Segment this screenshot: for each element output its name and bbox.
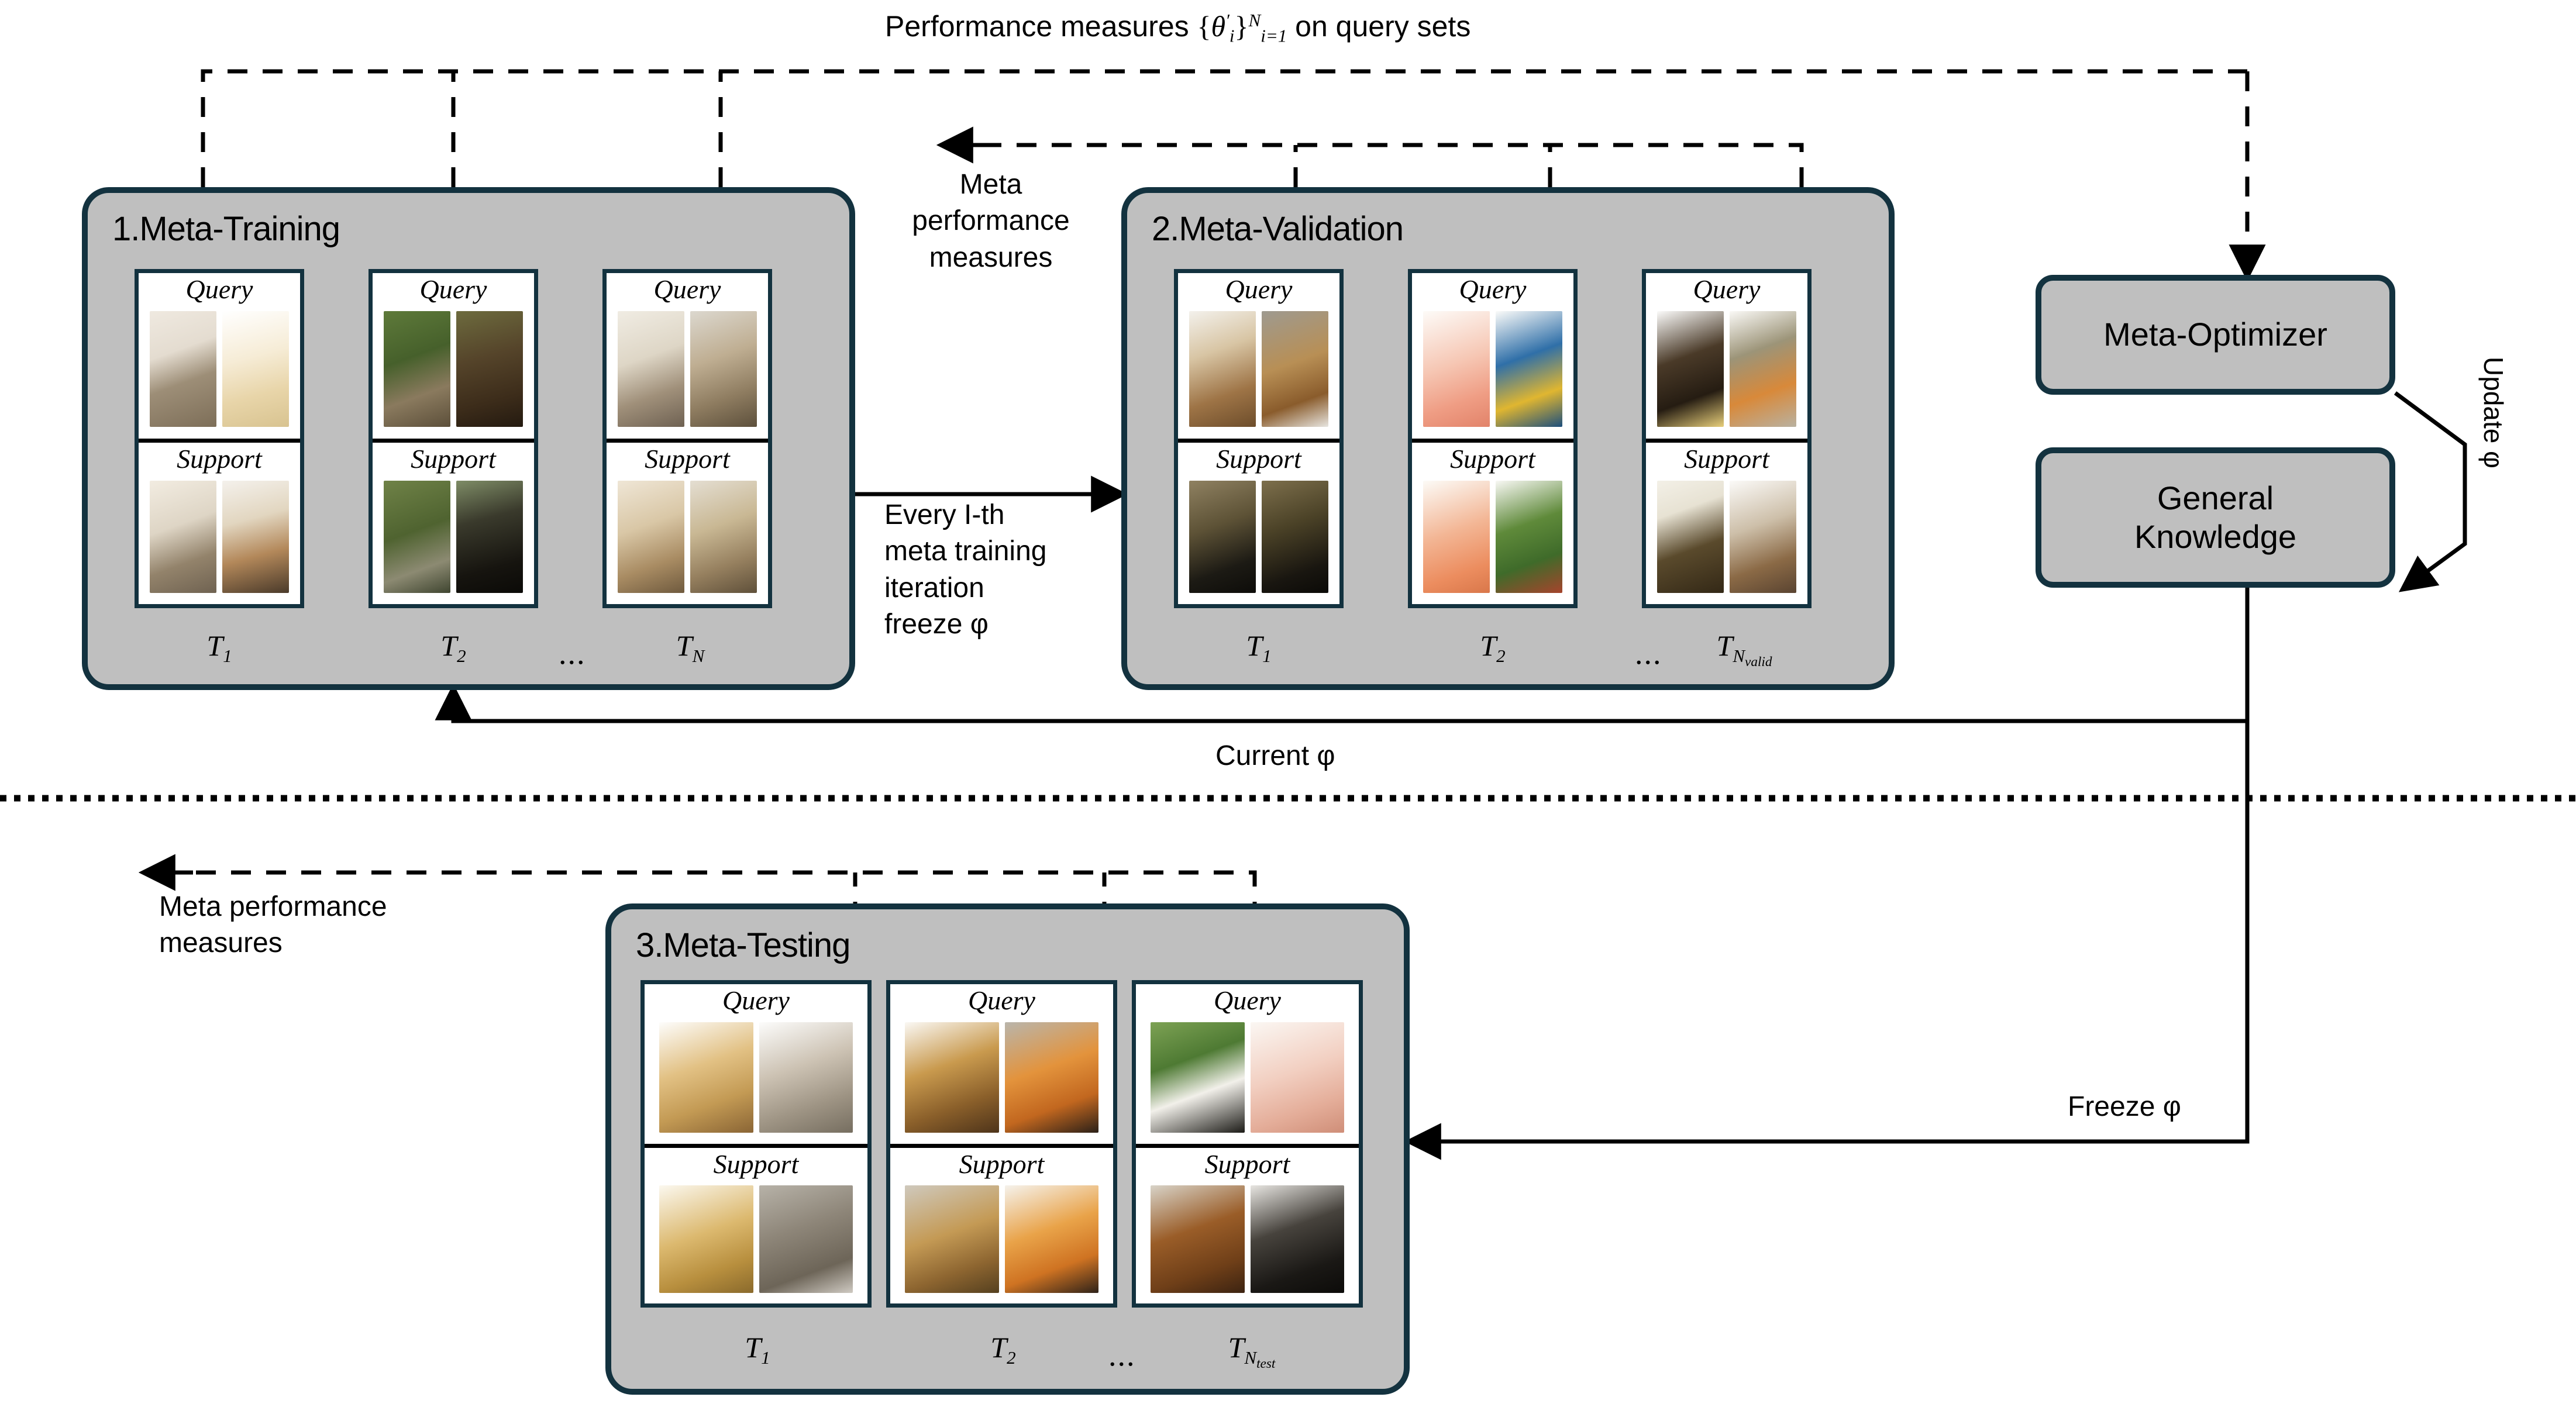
- task-label-base: T: [440, 629, 457, 662]
- image-lion: [905, 1022, 999, 1133]
- query-section: Query: [607, 273, 768, 439]
- task-label-base: T: [206, 629, 223, 662]
- freeze-phi-label: Freeze φ: [2068, 1089, 2181, 1125]
- image-brown-bear: [456, 311, 523, 427]
- task-card[interactable]: Query Support: [640, 980, 872, 1308]
- task-label-sub: 1: [1262, 646, 1272, 666]
- image-giraffe-full: [659, 1185, 753, 1292]
- task-label-sub: 2: [1007, 1347, 1016, 1368]
- support-heading: Support: [177, 445, 262, 473]
- query-heading: Query: [1225, 275, 1293, 304]
- image-lynx: [690, 311, 757, 427]
- support-section: Support: [607, 439, 768, 604]
- support-heading: Support: [714, 1150, 799, 1178]
- top-caption-prefix: Performance measures: [885, 10, 1197, 43]
- query-heading: Query: [722, 987, 790, 1015]
- image-tiger: [1005, 1022, 1099, 1133]
- set-subscript: i=1: [1261, 25, 1287, 46]
- dashed-train-feedback: [203, 71, 2247, 187]
- task-label-base: T: [1717, 629, 1733, 662]
- image-stag-deer: [1262, 311, 1328, 427]
- meta-optimizer-label: Meta-Optimizer: [2103, 315, 2327, 354]
- theta-symbol: θ: [1211, 10, 1226, 43]
- query-heading: Query: [186, 275, 253, 304]
- update-phi-label: Update φ: [2478, 357, 2509, 468]
- task-label-base: T: [1246, 629, 1262, 662]
- task-label: TN: [643, 629, 737, 667]
- task-label-sub: 2: [1496, 646, 1506, 666]
- image-dark-stag: [1262, 481, 1328, 593]
- query-section: Query: [890, 984, 1113, 1144]
- query-images: [607, 304, 768, 439]
- query-section: Query: [1646, 273, 1807, 439]
- query-section: Query: [1178, 273, 1339, 439]
- query-section: Query: [1136, 984, 1359, 1144]
- task-label-base: T: [990, 1331, 1007, 1364]
- support-section: Support: [1412, 439, 1573, 604]
- query-heading: Query: [654, 275, 721, 304]
- task-label-base: T: [676, 629, 693, 662]
- query-section: Query: [139, 273, 300, 439]
- query-heading: Query: [1459, 275, 1527, 304]
- image-flying-eagle: [1657, 311, 1724, 427]
- task-card[interactable]: Query Support: [1408, 269, 1578, 608]
- support-images: [1412, 473, 1573, 604]
- image-highland-cattle: [1151, 1185, 1245, 1292]
- image-blue-gold-macaw: [1496, 311, 1562, 427]
- query-images: [139, 304, 300, 439]
- task-label-subsub: valid: [1745, 654, 1772, 670]
- meta-optimizer-box[interactable]: Meta-Optimizer: [2036, 275, 2395, 395]
- support-heading: Support: [1205, 1150, 1290, 1178]
- general-knowledge-label: General Knowledge: [2134, 479, 2296, 556]
- image-sparrow: [1730, 481, 1796, 593]
- task-label-sub: 2: [457, 646, 466, 666]
- image-lynx-2: [690, 481, 757, 593]
- task-card[interactable]: Query Support: [1174, 269, 1344, 608]
- task-label: T2: [959, 1330, 1047, 1368]
- support-heading: Support: [411, 445, 496, 473]
- support-section: Support: [1136, 1144, 1359, 1303]
- task-label-sub: Ntest: [1244, 1347, 1275, 1368]
- task-label: T2: [1449, 629, 1537, 667]
- image-bald-eagle: [1657, 481, 1724, 593]
- image-doe-deer: [1189, 311, 1256, 427]
- support-heading: Support: [1684, 445, 1769, 473]
- task-card[interactable]: Query Support: [369, 269, 538, 608]
- support-section: Support: [1646, 439, 1807, 604]
- arrow-update-phi: [2395, 393, 2465, 588]
- top-caption-suffix: on query sets: [1287, 10, 1470, 43]
- support-images: [1178, 473, 1339, 604]
- set-open-brace: {: [1197, 10, 1211, 43]
- support-heading: Support: [1450, 445, 1535, 473]
- image-elephant-2: [759, 1185, 853, 1292]
- top-caption: Performance measures {θ′i}Ni=1 on query …: [885, 9, 1470, 46]
- theta-index: i: [1230, 25, 1235, 46]
- query-images: [645, 1015, 867, 1144]
- support-section: Support: [1178, 439, 1339, 604]
- image-vervet-monkey: [384, 481, 450, 593]
- image-elephant: [759, 1022, 853, 1133]
- task-label-sub: 1: [761, 1347, 770, 1368]
- task-label-base: T: [1228, 1331, 1245, 1364]
- meta-performance-measures-middle: Meta performance measures: [871, 167, 1111, 276]
- support-images: [607, 473, 768, 604]
- query-heading: Query: [1693, 275, 1761, 304]
- current-phi-label: Current φ: [1215, 738, 1335, 774]
- support-heading: Support: [959, 1150, 1045, 1178]
- image-flamingo-2: [1423, 481, 1490, 593]
- task-label-base: T: [1480, 629, 1496, 662]
- query-heading: Query: [1214, 987, 1281, 1015]
- theta-prime: ′: [1225, 10, 1230, 30]
- task-label: T1: [1215, 629, 1303, 667]
- task-label-subsub: test: [1256, 1356, 1275, 1371]
- task-card[interactable]: Query Support: [886, 980, 1117, 1308]
- image-dark-doe: [1189, 481, 1256, 593]
- support-section: Support: [373, 439, 534, 604]
- support-section: Support: [645, 1144, 867, 1303]
- task-label: T1: [175, 629, 263, 667]
- query-section: Query: [645, 984, 867, 1144]
- query-section: Query: [373, 273, 534, 439]
- general-knowledge-box[interactable]: General Knowledge: [2036, 447, 2395, 588]
- image-pig: [1251, 1022, 1345, 1133]
- image-giraffe-head: [659, 1022, 753, 1133]
- task-label-sub: 1: [223, 646, 232, 666]
- stage-ellipsis: ...: [1635, 637, 1662, 669]
- set-superscript: N: [1249, 10, 1261, 30]
- support-images: [890, 1178, 1113, 1303]
- support-heading: Support: [645, 445, 730, 473]
- query-heading: Query: [420, 275, 487, 304]
- task-label: T1: [714, 1330, 801, 1368]
- image-holstein-cow: [1151, 1022, 1245, 1133]
- stage-title-meta-training: 1.Meta-Training: [112, 209, 340, 249]
- support-images: [645, 1178, 867, 1303]
- task-label-sub: N: [693, 646, 705, 666]
- support-section: Support: [890, 1144, 1113, 1303]
- stage-ellipsis: ...: [1108, 1339, 1136, 1371]
- query-images: [1178, 304, 1339, 439]
- image-tabby-cat-2: [618, 481, 684, 593]
- image-tabby-cat: [150, 311, 216, 427]
- task-label: TNvalid: [1674, 629, 1814, 670]
- task-label: T2: [409, 629, 497, 667]
- query-images: [373, 304, 534, 439]
- task-label-sub-main: N: [1244, 1347, 1256, 1368]
- support-images: [139, 473, 300, 604]
- support-heading: Support: [1216, 445, 1301, 473]
- image-labrador-dog: [222, 311, 289, 427]
- support-images: [1646, 473, 1807, 604]
- query-section: Query: [1412, 273, 1573, 439]
- set-close-brace: }: [1235, 10, 1249, 43]
- query-images: [1412, 304, 1573, 439]
- query-images: [890, 1015, 1113, 1144]
- task-card[interactable]: Query Support: [135, 269, 304, 608]
- task-label-sub-main: N: [1733, 646, 1745, 666]
- task-card[interactable]: Query Support: [1132, 980, 1363, 1308]
- task-label: TNtest: [1182, 1330, 1322, 1372]
- image-flamingo: [1423, 311, 1490, 427]
- image-macaque-monkey: [384, 311, 450, 427]
- every-ith-iteration-label: Every I-th meta training iteration freez…: [884, 497, 1118, 643]
- stage-title-meta-validation: 2.Meta-Validation: [1152, 209, 1403, 249]
- meta-performance-measures-bottom: Meta performance measures: [159, 889, 463, 962]
- image-black-bear: [456, 481, 523, 593]
- query-heading: Query: [968, 987, 1035, 1015]
- image-robin: [1730, 311, 1796, 427]
- image-beagle-dog: [222, 481, 289, 593]
- image-tiger-2: [1005, 1185, 1099, 1292]
- image-house-cat: [618, 311, 684, 427]
- task-card[interactable]: Query Support: [1642, 269, 1812, 608]
- task-card[interactable]: Query Support: [602, 269, 772, 608]
- query-images: [1136, 1015, 1359, 1144]
- task-label-base: T: [745, 1331, 761, 1364]
- stage-ellipsis: ...: [559, 637, 586, 669]
- image-black-boar: [1251, 1185, 1345, 1292]
- stage-title-meta-testing: 3.Meta-Testing: [636, 926, 850, 965]
- query-images: [1646, 304, 1807, 439]
- task-label-sub: Nvalid: [1733, 646, 1772, 666]
- support-images: [1136, 1178, 1359, 1303]
- image-green-conure: [1496, 481, 1562, 593]
- image-grey-cat: [150, 481, 216, 593]
- support-section: Support: [139, 439, 300, 604]
- support-images: [373, 473, 534, 604]
- image-lion-2: [905, 1185, 999, 1292]
